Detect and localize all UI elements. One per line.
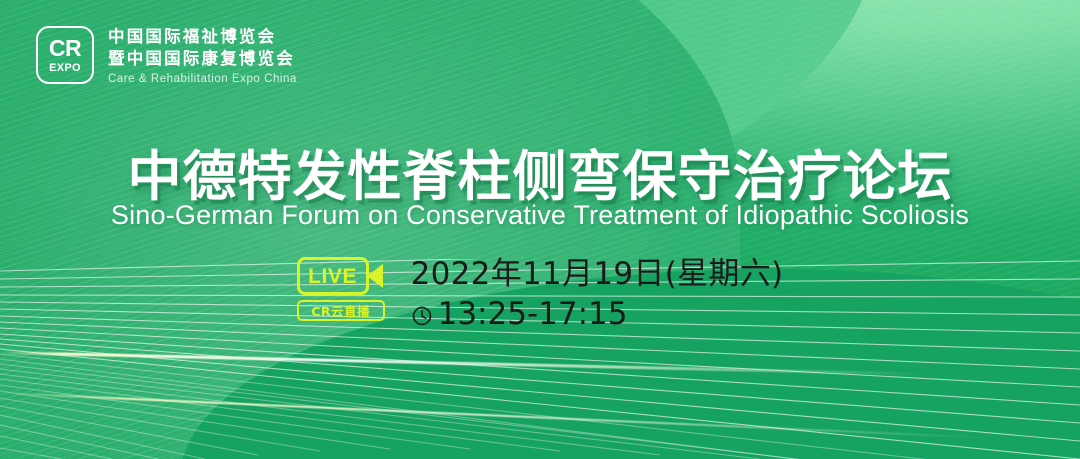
clock-icon <box>411 305 433 327</box>
logo-expo-text: EXPO <box>49 63 81 74</box>
organizer-name-en: Care & Rehabilitation Expo China <box>108 73 297 85</box>
organizer-name-cn-line1: 中国国际福祉博览会 <box>108 26 297 48</box>
event-datetime-block: 2022年11月19日(星期六) 13:25-17:15 <box>411 256 784 334</box>
event-title-en: Sino-German Forum on Conservative Treatm… <box>0 200 1080 231</box>
live-label: LIVE <box>308 266 357 287</box>
live-badge-group: LIVE CR云直播 <box>297 256 385 321</box>
organizer-name-block: 中国国际福祉博览会 暨中国国际康复博览会 Care & Rehabilitati… <box>108 26 297 85</box>
live-sub-label: CR云直播 <box>297 300 385 321</box>
banner-header: CR EXPO 中国国际福祉博览会 暨中国国际康复博览会 Care & Reha… <box>36 26 297 85</box>
organizer-name-cn-line2: 暨中国国际康复博览会 <box>108 48 297 70</box>
event-date: 2022年11月19日(星期六) <box>411 256 784 294</box>
logo-cr-text: CR <box>49 37 81 60</box>
cr-expo-logo-icon: CR EXPO <box>36 26 94 84</box>
event-time-row: 13:25-17:15 <box>411 296 784 334</box>
live-badge: LIVE <box>297 257 385 295</box>
live-badge-frame: LIVE <box>297 257 369 295</box>
event-time: 13:25-17:15 <box>438 296 628 334</box>
event-info-row: LIVE CR云直播 2022年11月19日(星期六) 13:25-17:15 <box>0 256 1080 334</box>
video-camera-icon <box>367 264 383 288</box>
event-banner: CR EXPO 中国国际福祉博览会 暨中国国际康复博览会 Care & Reha… <box>0 0 1080 459</box>
